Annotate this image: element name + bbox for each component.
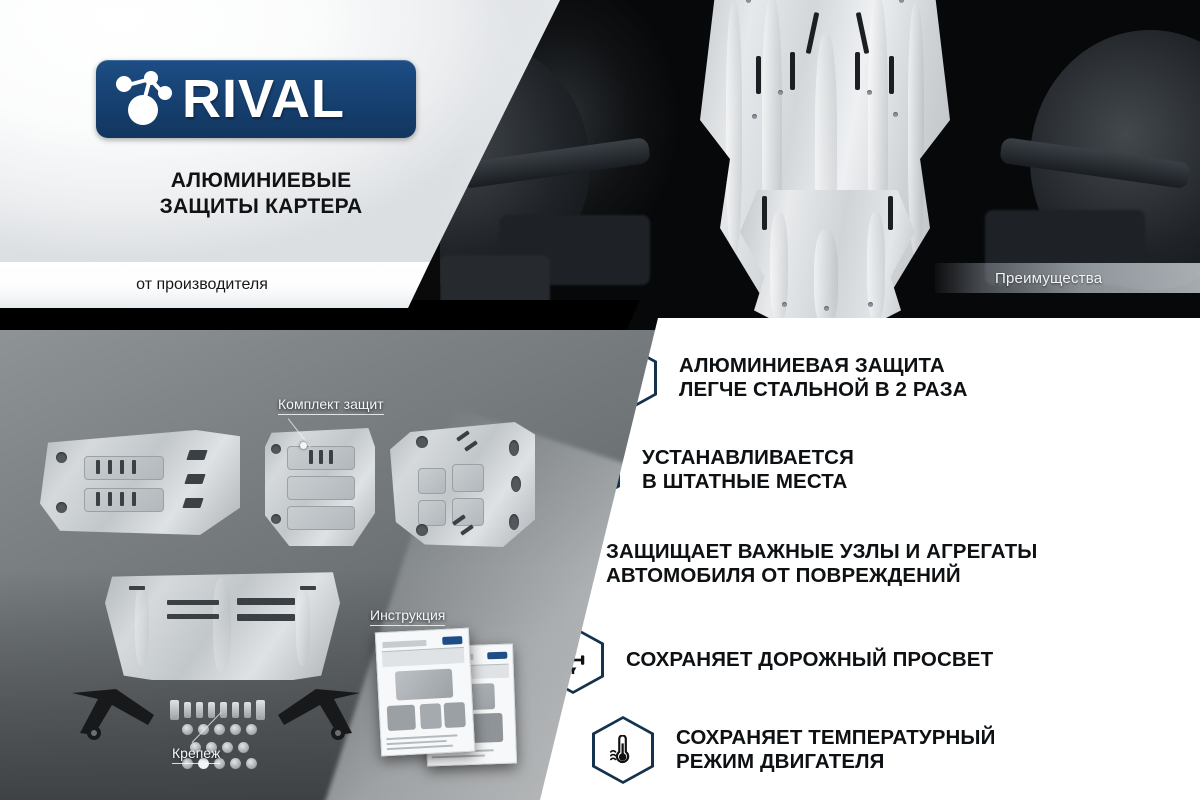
benefit-item-5: СОХРАНЯЕТ ТЕМПЕРАТУРНЫЙ РЕЖИМ ДВИГАТЕЛЯ (592, 716, 995, 784)
skid-plate-2 (265, 428, 375, 546)
instruction-sheet-front (375, 628, 475, 757)
headline-line-1: АЛЮМИНИЕВЫЕ (96, 168, 426, 194)
molecule-icon (110, 68, 180, 130)
benefit-item-1: АЛЮМИНИЕВАЯ ЗАЩИТА ЛЕГЧЕ СТАЛЬНОЙ В 2 РА… (595, 344, 968, 412)
callout-plate-set-label: Комплект защит (278, 396, 384, 412)
benefit-3-line-1: ЗАЩИЩАЕТ ВАЖНЫЕ УЗЛЫ И АГРЕГАТЫ (606, 540, 1037, 564)
underbody-photo: Преимущества (440, 0, 1200, 332)
promo-banner: Преимущества RIVAL АЛЮМИНИЕВЫЕ ЗАЩИТЫ КА… (0, 0, 1200, 800)
rival-logo: RIVAL (96, 60, 416, 138)
benefit-5-line-1: СОХРАНЯЕТ ТЕМПЕРАТУРНЫЙ (676, 726, 995, 750)
engine-skid-plate (105, 570, 340, 680)
bracket-right-icon (272, 685, 364, 743)
callout-fasteners-label: Крепеж (172, 745, 220, 761)
benefit-2-line-2: В ШТАТНЫЕ МЕСТА (642, 470, 854, 494)
benefit-3-line-2: АВТОМОБИЛЯ ОТ ПОВРЕЖДЕНИЙ (606, 564, 1037, 588)
subtitle-text: от производителя (136, 276, 294, 294)
bracket-left-icon (68, 685, 160, 743)
skid-plate-1 (40, 430, 240, 535)
benefit-item-4: СОХРАНЯЕТ ДОРОЖНЫЙ ПРОСВЕТ (542, 626, 993, 694)
tab-advantages-label: Преимущества (995, 270, 1102, 287)
callout-fasteners: Крепеж (172, 745, 220, 764)
subtitle-strip: от производителя (0, 262, 430, 308)
tab-advantages[interactable]: Преимущества (935, 263, 1200, 293)
benefit-5-line-2: РЕЖИМ ДВИГАТЕЛЯ (676, 750, 995, 774)
installed-front-plate (740, 190, 915, 330)
rival-logo-text: RIVAL (182, 72, 345, 126)
benefit-1-line-1: АЛЮМИНИЕВАЯ ЗАЩИТА (679, 354, 968, 378)
skid-plate-3 (390, 422, 535, 547)
benefit-4-line-1: СОХРАНЯЕТ ДОРОЖНЫЙ ПРОСВЕТ (626, 648, 993, 672)
page-title: АЛЮМИНИЕВЫЕ ЗАЩИТЫ КАРТЕРА (96, 168, 426, 221)
thermometer-icon (592, 716, 654, 784)
callout-plate-set: Комплект защит (278, 396, 384, 415)
headline-line-2: ЗАЩИТЫ КАРТЕРА (96, 194, 426, 220)
benefit-1-line-2: ЛЕГЧЕ СТАЛЬНОЙ В 2 РАЗА (679, 378, 968, 402)
benefit-2-line-1: УСТАНАВЛИВАЕТСЯ (642, 446, 854, 470)
callout-instruction: Инструкция (370, 607, 445, 626)
callout-instruction-label: Инструкция (370, 607, 445, 623)
